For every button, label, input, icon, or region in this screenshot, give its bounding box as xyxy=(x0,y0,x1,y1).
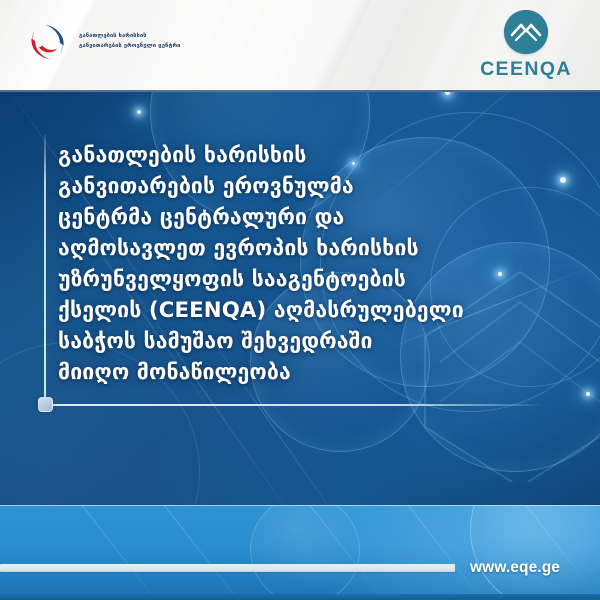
eqe-logo-text-line2: განვითარების ეროვნული ცენტრი xyxy=(79,42,181,52)
main-panel: განათლების ხარისხის განვითარების ეროვნულ… xyxy=(0,92,600,505)
headline-line: აღმოსავლეთ ევროპის ხარისხის xyxy=(58,233,578,264)
eqe-swoosh-logo-icon xyxy=(26,20,70,64)
footer-divider xyxy=(0,564,455,572)
decorative-glow-dot xyxy=(445,92,450,95)
header-bar: განათლების ხარისხის განვითარების ეროვნულ… xyxy=(0,0,600,92)
page-title: განათლების ხარისხის განვითარების ეროვნულ… xyxy=(58,140,578,388)
headline-line: ქსელის (CEENQA) აღმასრულებელი xyxy=(58,295,578,326)
accent-corner-node xyxy=(38,397,53,412)
headline-line: განათლების ხარისხის xyxy=(58,140,578,171)
headline-line: საბჭოს სამუშაო შეხვედრაში xyxy=(58,326,578,357)
headline-line: უზრუნველყოფის სააგენტოების xyxy=(58,264,578,295)
decorative-glow-dot xyxy=(137,110,141,114)
accent-vertical-rule xyxy=(44,135,46,405)
headline-line: მიიღო მონაწილეობა xyxy=(58,357,578,388)
headline-line: განვითარების ეროვნულმა xyxy=(58,171,578,202)
headline-line: ცენტრმა ცენტრალური და xyxy=(58,202,578,233)
ceenqa-logo[interactable]: CEENQA xyxy=(474,10,578,81)
eqe-logo-text-line1: განათლების ხარისხის xyxy=(79,32,181,42)
eqe-logo[interactable]: განათლების ხარისხის განვითარების ეროვნულ… xyxy=(26,20,181,64)
footer-bar: www.eqe.ge xyxy=(0,505,600,600)
decorative-bubble xyxy=(250,505,360,600)
website-url[interactable]: www.eqe.ge xyxy=(470,559,560,577)
decorative-glow-dot xyxy=(586,392,590,396)
ceenqa-chevron-icon xyxy=(504,10,548,54)
ceenqa-wordmark: CEENQA xyxy=(474,58,578,81)
footer-bottom-edge xyxy=(0,594,600,600)
eqe-logo-text: განათლების ხარისხის განვითარების ეროვნულ… xyxy=(79,32,181,52)
social-media-post: განათლების ხარისხის განვითარების ეროვნულ… xyxy=(0,0,600,600)
accent-horizontal-rule xyxy=(46,404,546,406)
